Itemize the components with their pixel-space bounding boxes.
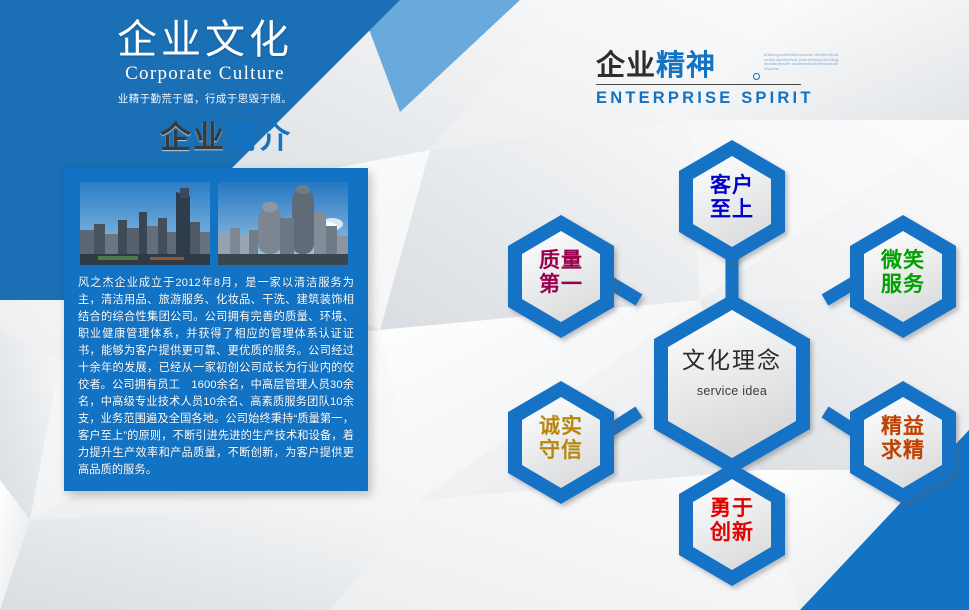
spirit-title-en: ENTERPRISE SPIRIT <box>596 89 846 108</box>
photo-row <box>64 168 368 265</box>
spirit-title-dark: 企业 <box>596 50 656 82</box>
intro-heading-blue: 简介 <box>226 120 292 155</box>
spirit-dot-icon <box>753 73 760 80</box>
satellite-hexagon-quality-first <box>508 215 614 338</box>
banner-title-cn: 企业文化 <box>40 18 370 61</box>
satellite-hexagon-customer-first <box>679 140 785 263</box>
city-skyline-photo-1 <box>80 182 210 265</box>
spirit-divider <box>596 84 801 85</box>
satellite-hexagon-integrity <box>508 381 614 504</box>
city-skyline-photo-2 <box>218 182 348 265</box>
banner-title-en: Corporate Culture <box>40 63 370 85</box>
enterprise-spirit-heading: 企业精神 ENTERPRISE SPIRIT dfhdzujvwehlblkfw… <box>596 52 846 108</box>
company-intro-heading: 企业简介 <box>160 112 292 157</box>
intro-heading-dark: 企业 <box>160 120 226 155</box>
spirit-title-blue: 精神 <box>656 50 716 82</box>
culture-hexagon-diagram: 文化理念 service idea 客户 至上 微笑 服务 精益 求精 勇于 创… <box>495 112 969 610</box>
satellite-hexagon-smile-service <box>850 215 956 338</box>
satellite-hexagon-excellence <box>850 381 956 504</box>
profile-body-text: 风之杰企业成立于2012年8月，是一家以清洁服务为主，清洁用品、旅游服务、化妆品… <box>64 265 368 479</box>
satellite-hexagon-innovation <box>679 463 785 586</box>
company-profile-card: 风之杰企业成立于2012年8月，是一家以清洁服务为主，清洁用品、旅游服务、化妆品… <box>64 168 368 491</box>
spirit-decorative-text: dfhdzujvwehlblkfwuhzcfkl dfslfzelzfufanx… <box>764 53 840 77</box>
banner-subtitle: 业精于勤荒于嬉，行成于思毁于随。 <box>40 91 370 106</box>
core-hexagon <box>654 294 810 474</box>
poster-canvas: 企业文化 Corporate Culture 业精于勤荒于嬉，行成于思毁于随。 … <box>0 0 969 610</box>
